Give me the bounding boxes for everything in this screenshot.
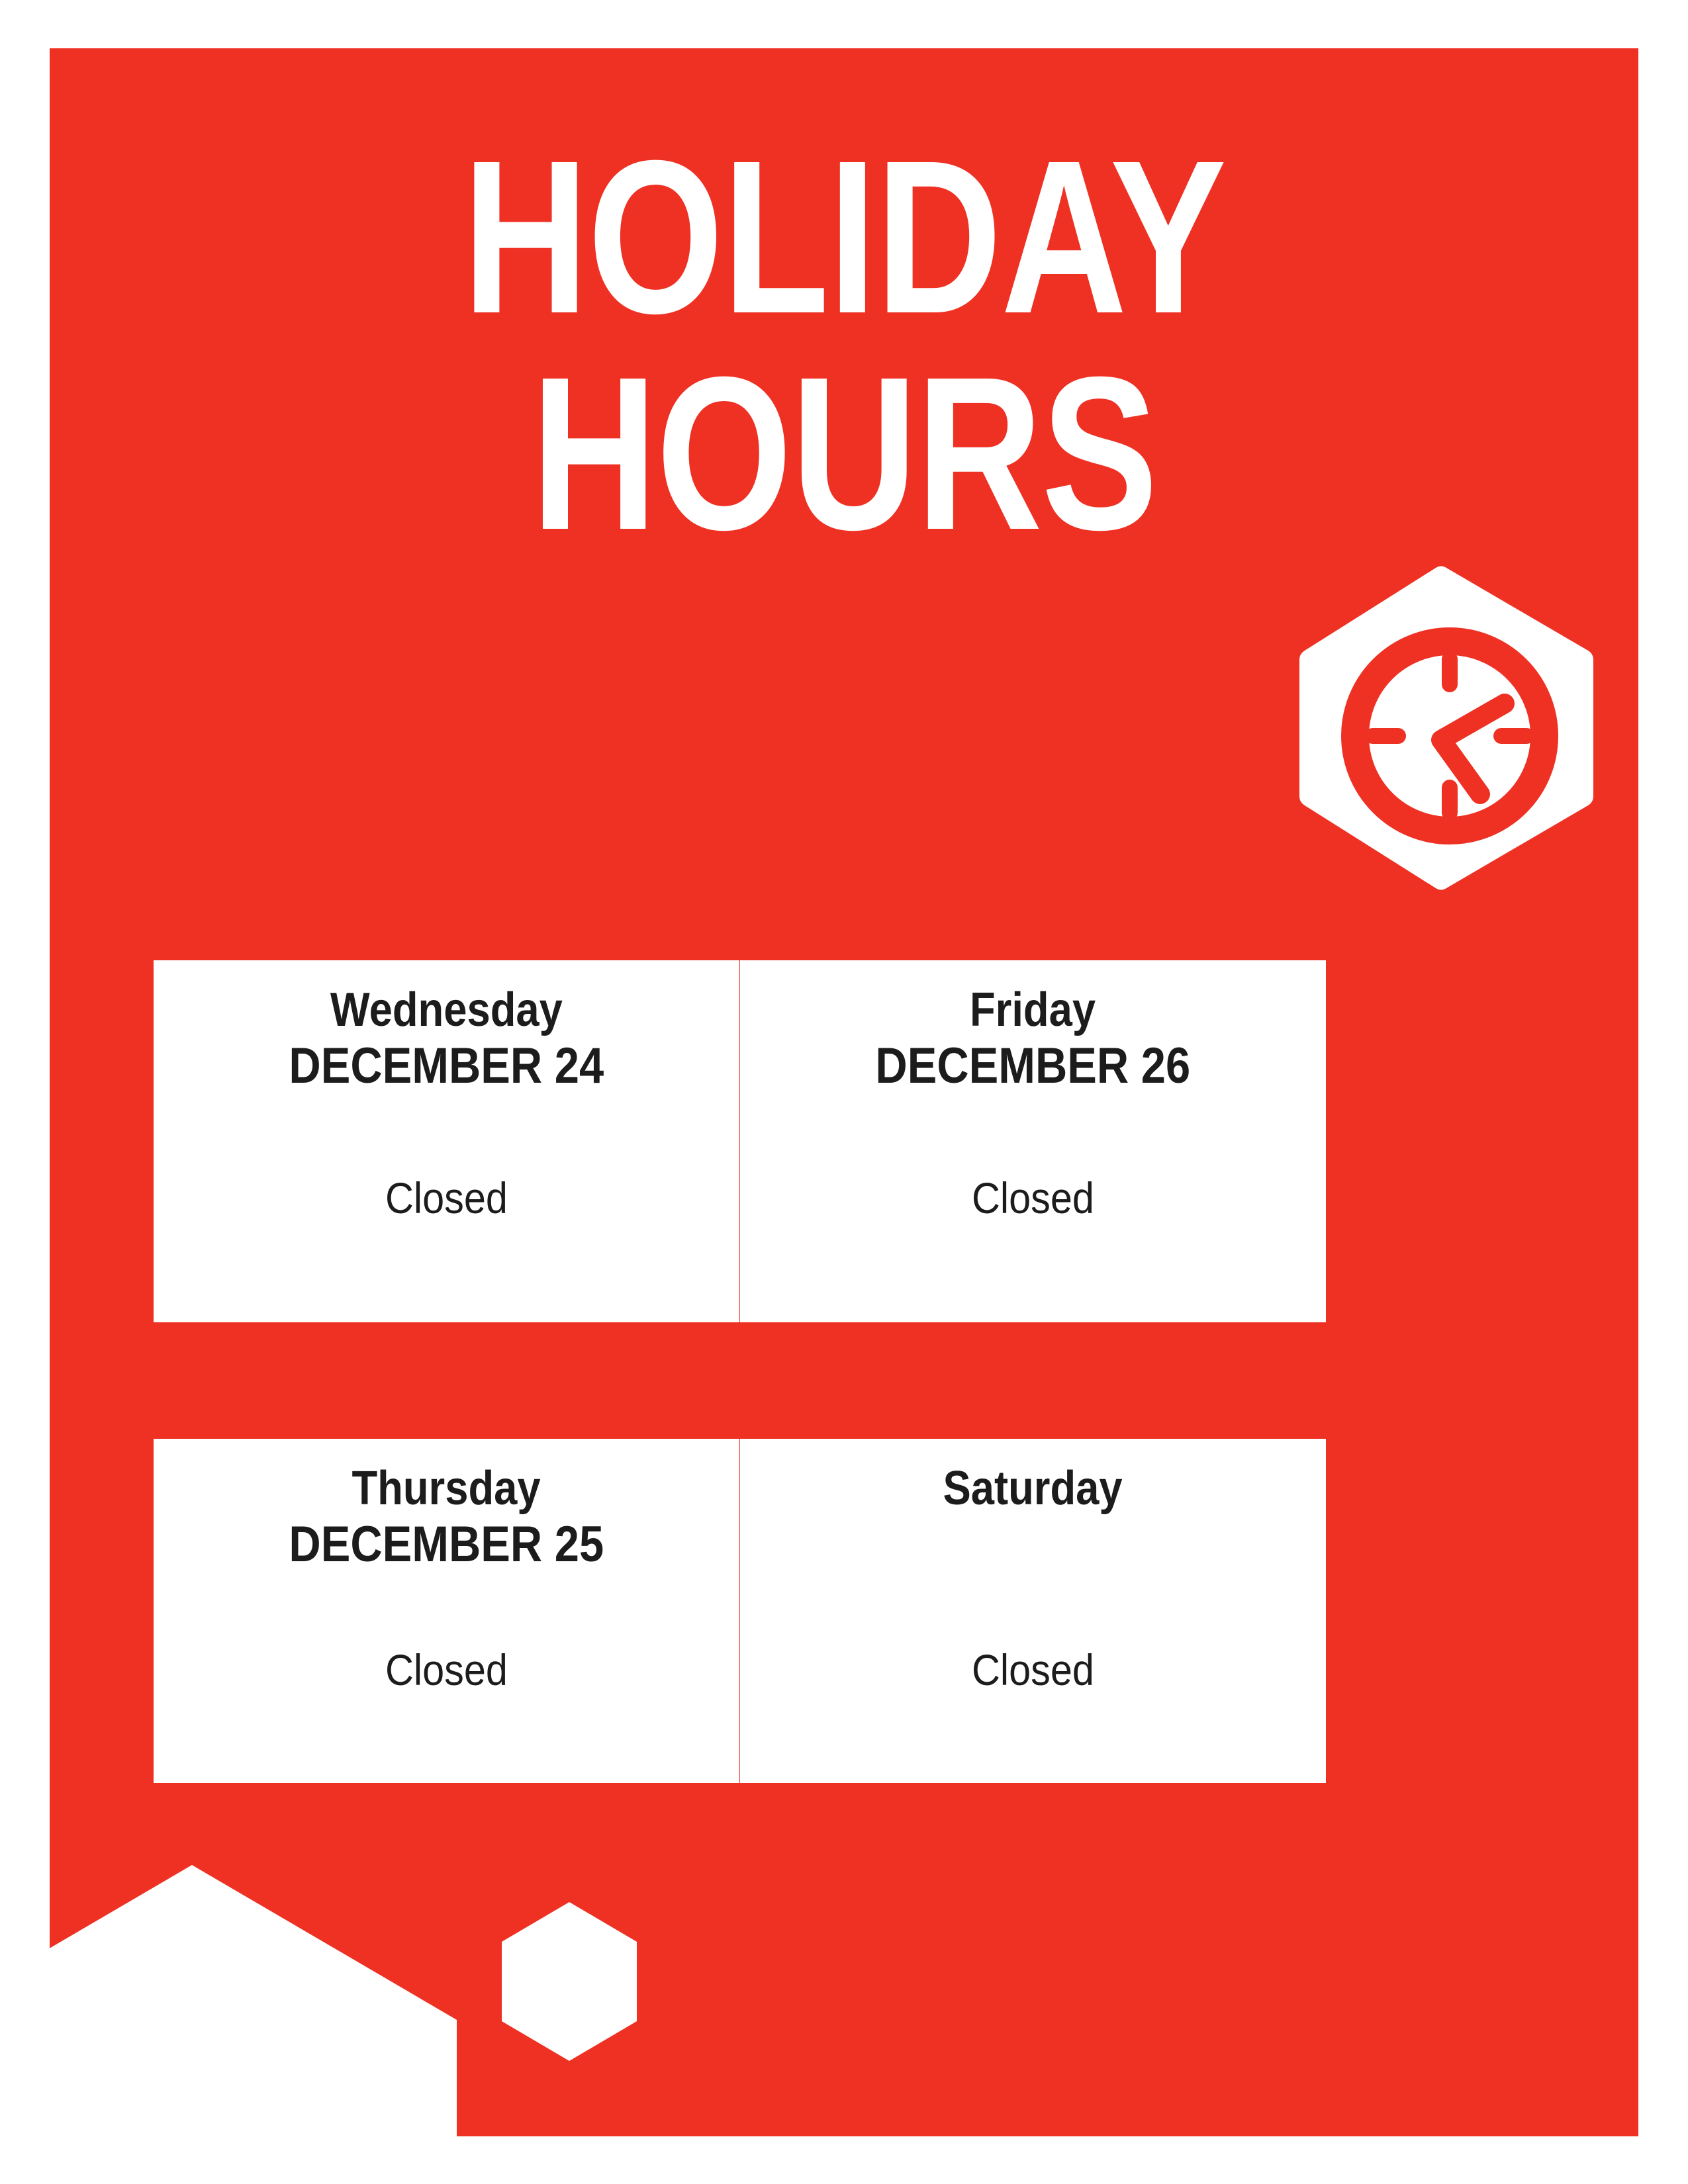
card-status-label: Closed bbox=[769, 1176, 1297, 1220]
card-status-label: Closed bbox=[183, 1176, 710, 1220]
card-status-label: Closed bbox=[183, 1648, 710, 1692]
schedule-card[interactable]: Wednesday DECEMBER 24 Closed bbox=[154, 960, 739, 1322]
card-day-label: Thursday bbox=[352, 1464, 541, 1514]
holiday-hours-poster: HOLIDAY HOURS Wednesday DECEMBER bbox=[0, 0, 1688, 2184]
card-date-label: DECEMBER 24 bbox=[289, 1036, 604, 1097]
schedule-card[interactable]: Saturday Closed bbox=[740, 1439, 1326, 1783]
card-status-label: Closed bbox=[769, 1648, 1297, 1692]
schedule-card-grid: Wednesday DECEMBER 24 Closed Friday DECE… bbox=[154, 960, 1527, 1783]
card-date-label: DECEMBER 26 bbox=[876, 1036, 1191, 1097]
schedule-card[interactable]: Thursday DECEMBER 25 Closed bbox=[154, 1439, 739, 1783]
card-day-label: Friday bbox=[970, 985, 1096, 1036]
schedule-card[interactable]: Friday DECEMBER 26 Closed bbox=[740, 960, 1326, 1322]
card-date-label: DECEMBER 25 bbox=[289, 1514, 604, 1576]
card-day-label: Saturday bbox=[943, 1464, 1123, 1514]
clock-badge bbox=[1294, 563, 1599, 893]
card-day-label: Wednesday bbox=[330, 985, 563, 1036]
